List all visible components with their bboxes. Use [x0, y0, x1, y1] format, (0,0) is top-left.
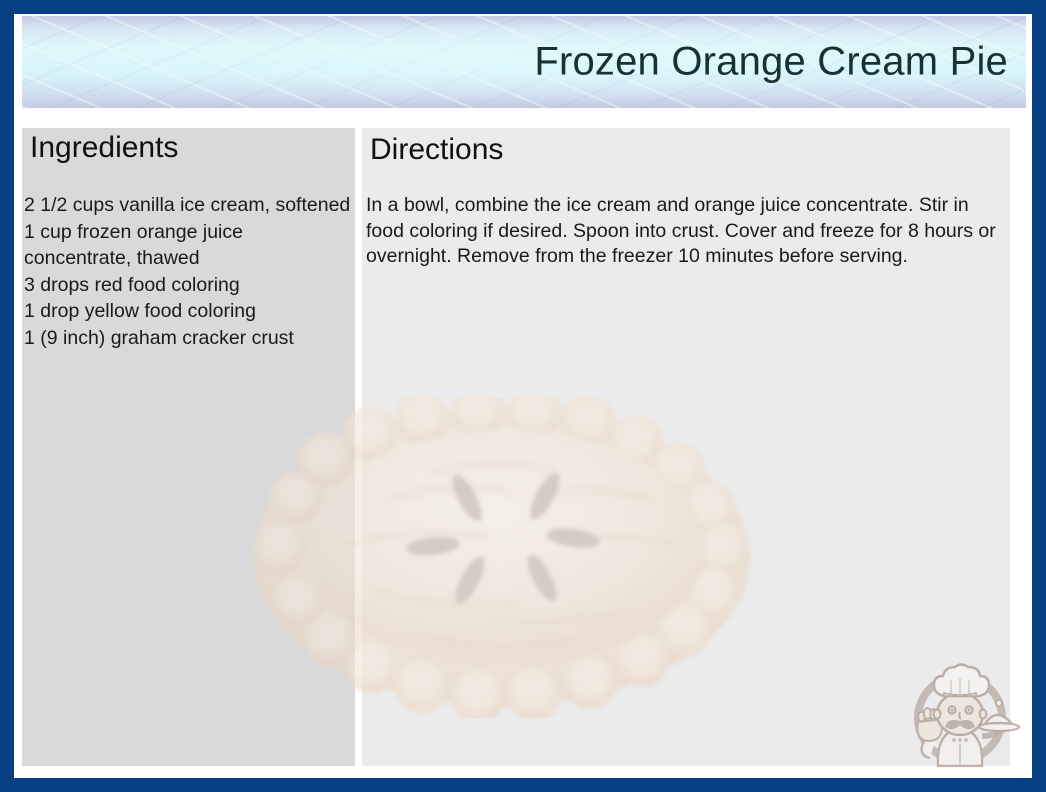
directions-heading: Directions	[370, 135, 503, 165]
ingredients-list: 2 1/2 cups vanilla ice cream, softened 1…	[22, 192, 352, 351]
tab-ingredients: Ingredients	[22, 128, 200, 168]
directions-text: In a bowl, combine the ice cream and ora…	[366, 193, 1012, 270]
ingredients-heading: Ingredients	[30, 133, 178, 163]
list-item: 1 drop yellow food coloring	[24, 298, 352, 325]
list-item: 1 (9 inch) graham cracker crust	[24, 325, 352, 352]
page-title: Frozen Orange Cream Pie	[534, 40, 1008, 85]
recipe-card-page: Frozen Orange Cream Pie	[0, 0, 1046, 792]
list-item: 2 1/2 cups vanilla ice cream, softened	[24, 192, 352, 219]
list-item: 3 drops red food coloring	[24, 272, 352, 299]
tab-directions: Directions	[362, 130, 528, 170]
title-banner: Frozen Orange Cream Pie	[22, 16, 1026, 108]
list-item: 1 cup frozen orange juice concentrate, t…	[24, 219, 352, 272]
